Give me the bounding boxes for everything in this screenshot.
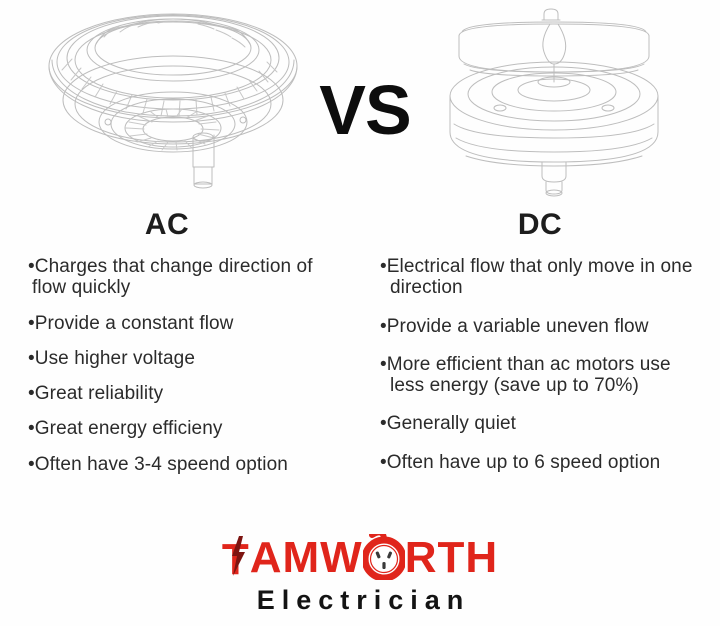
bullet-dot-icon: • [380, 452, 387, 473]
vs-label: VS [319, 75, 410, 145]
column-heading-dc: DC [480, 208, 600, 241]
list-item: •Great reliability [18, 383, 348, 404]
brand-part-1: T [222, 538, 250, 582]
bullet-dot-icon: • [28, 313, 35, 334]
list-item-text: Electrical flow that only move in one di… [387, 256, 693, 298]
list-item-text: Charges that change direction of flow qu… [32, 256, 313, 298]
brand-letter-o [363, 536, 405, 580]
list-item-text: Provide a constant flow [35, 313, 234, 334]
list-item: •Generally quiet [374, 413, 708, 434]
column-ac: •Charges that change direction of flow q… [18, 256, 348, 489]
list-item: •Often have up to 6 speed option [374, 452, 708, 473]
bullet-dot-icon: • [28, 383, 35, 404]
list-item-text: Generally quiet [387, 413, 516, 434]
illustration-row: VS [0, 0, 720, 200]
column-dc: •Electrical flow that only move in one d… [374, 256, 708, 490]
bullet-dot-icon: • [28, 454, 35, 475]
bullet-dot-icon: • [380, 256, 387, 277]
ac-motor-illustration [38, 4, 308, 200]
list-item: •Great energy efficieny [18, 418, 348, 439]
list-item-text: Great reliability [35, 383, 163, 404]
bullet-dot-icon: • [28, 418, 35, 439]
power-socket-icon [363, 534, 405, 580]
brand-part-2: AMW [250, 536, 363, 580]
brand-tagline: Electrician [0, 587, 720, 614]
brand-logo[interactable]: T AMW RTH Electrician [0, 534, 720, 614]
dc-motor-illustration [432, 4, 682, 200]
list-item: •Provide a variable uneven flow [374, 316, 708, 337]
bullet-list-dc: •Electrical flow that only move in one d… [374, 256, 708, 473]
list-item: •Provide a constant flow [18, 313, 348, 334]
column-heading-ac: AC [107, 208, 227, 241]
list-item-text: Often have up to 6 speed option [387, 452, 661, 473]
list-item: •Electrical flow that only move in one d… [374, 256, 708, 299]
infographic-page: VS [0, 0, 720, 626]
vs-separator: VS [310, 62, 420, 158]
list-item-text: Often have 3-4 speend option [35, 454, 288, 475]
list-item-text: Provide a variable uneven flow [387, 316, 649, 337]
list-item-text: Use higher voltage [35, 348, 195, 369]
list-item-text: More efficient than ac motors use less e… [387, 354, 671, 396]
brand-letter-t: T [222, 535, 250, 581]
list-item: •Charges that change direction of flow q… [18, 256, 348, 299]
brand-part-3: RTH [405, 536, 498, 580]
bullet-dot-icon: • [380, 413, 387, 434]
list-item: •Use higher voltage [18, 348, 348, 369]
bullet-list-ac: •Charges that change direction of flow q… [18, 256, 348, 475]
bullet-dot-icon: • [28, 256, 35, 277]
bullet-dot-icon: • [380, 316, 387, 337]
list-item-text: Great energy efficieny [35, 418, 223, 439]
bullet-dot-icon: • [380, 354, 387, 375]
list-item: •More efficient than ac motors use less … [374, 354, 708, 397]
brand-wordmark: T AMW RTH [222, 534, 498, 582]
bullet-dot-icon: • [28, 348, 35, 369]
list-item: •Often have 3-4 speend option [18, 454, 348, 475]
